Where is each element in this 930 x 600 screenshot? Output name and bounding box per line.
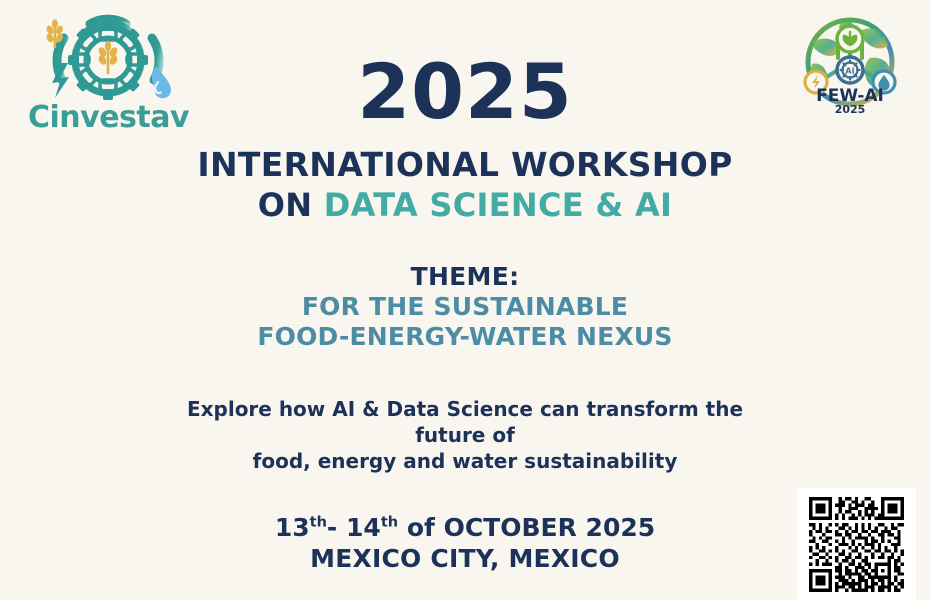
fewai-logo: AI FEW-AI 2025 bbox=[792, 12, 914, 118]
date-day1-suffix: th bbox=[310, 515, 327, 531]
date-day1: 13 bbox=[275, 513, 310, 542]
theme-line1: FOR THE SUSTAINABLE bbox=[150, 292, 780, 322]
year-heading: 2025 bbox=[150, 52, 780, 132]
event-location: MEXICO CITY, MEXICO bbox=[150, 543, 780, 574]
qr-code-card[interactable] bbox=[797, 488, 916, 600]
date-day2: 14 bbox=[346, 513, 381, 542]
theme-block: THEME: FOR THE SUSTAINABLE FOOD-ENERGY-W… bbox=[150, 262, 780, 352]
ai-gear-node-icon: AI bbox=[837, 57, 863, 83]
poster-content: 2025 INTERNATIONAL WORKSHOP ON DATA SCIE… bbox=[150, 52, 780, 574]
theme-line2: FOOD-ENERGY-WATER NEXUS bbox=[150, 322, 780, 352]
date-day2-suffix: th bbox=[381, 515, 398, 531]
workshop-title-line1: INTERNATIONAL WORKSHOP bbox=[150, 146, 780, 184]
date-separator: - bbox=[327, 513, 337, 542]
workshop-poster: Cinvestav bbox=[0, 0, 930, 600]
event-date: 13th- 14th of OCTOBER 2025 bbox=[150, 512, 780, 543]
tagline-line2: food, energy and water sustainability bbox=[150, 448, 780, 474]
event-details: 13th- 14th of OCTOBER 2025 MEXICO CITY, … bbox=[150, 512, 780, 574]
theme-label: THEME: bbox=[150, 262, 780, 292]
fewai-year: 2025 bbox=[835, 103, 866, 116]
date-rest: of OCTOBER 2025 bbox=[407, 513, 655, 542]
workshop-title-highlight: DATA SCIENCE & AI bbox=[324, 186, 672, 224]
leaf-node-icon bbox=[837, 26, 863, 52]
qr-code[interactable] bbox=[808, 497, 905, 592]
workshop-title-prefix: ON bbox=[258, 186, 313, 224]
workshop-title-line2: ON DATA SCIENCE & AI bbox=[150, 186, 780, 224]
tagline-block: Explore how AI & Data Science can transf… bbox=[150, 396, 780, 474]
wheat-icon bbox=[97, 41, 119, 74]
tagline-line1: Explore how AI & Data Science can transf… bbox=[150, 396, 780, 448]
svg-text:AI: AI bbox=[845, 66, 854, 75]
